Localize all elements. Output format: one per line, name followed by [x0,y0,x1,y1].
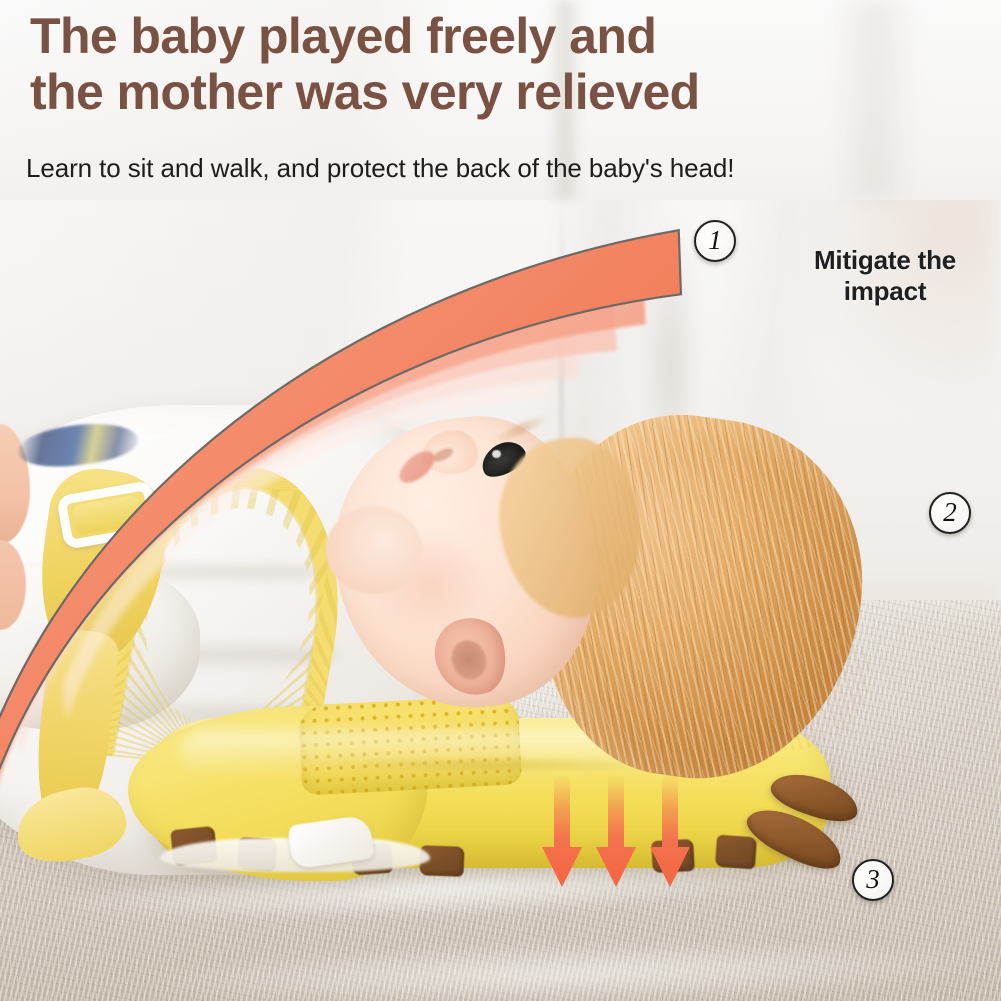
page-subtitle: Learn to sit and walk, and protect the b… [26,152,966,184]
force-arrows [536,775,696,895]
callout-mitigate-impact: Mitigate the impact [790,245,980,306]
callout-line-2: impact [790,276,980,307]
marker-3-label: 3 [866,866,880,893]
marker-3[interactable]: 3 [852,859,894,901]
page-title: The baby played freely and the mother wa… [30,8,970,120]
marker-2[interactable]: 2 [929,492,971,534]
header-banner: The baby played freely and the mother wa… [0,0,1001,200]
product-banner: 1 2 3 Mitigate the impact The baby playe… [0,0,1001,1001]
callout-line-1: Mitigate the [790,245,980,276]
marker-2-label: 2 [943,499,957,526]
page-title-line-1: The baby played freely and [30,8,656,64]
marker-1-label: 1 [708,227,722,254]
marker-1[interactable]: 1 [694,220,736,262]
page-title-line-2: the mother was very relieved [30,64,970,120]
